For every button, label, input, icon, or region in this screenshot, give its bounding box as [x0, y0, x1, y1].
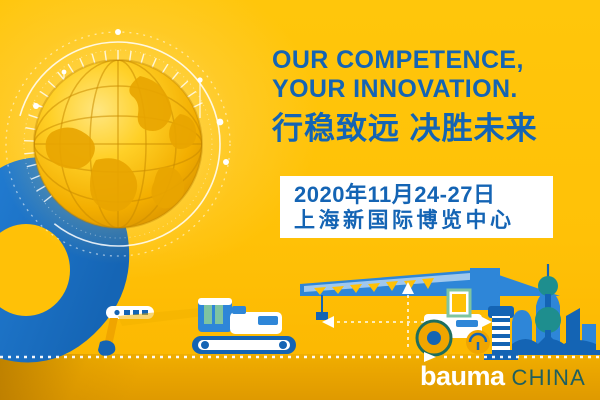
golden-globe-icon [0, 14, 244, 266]
headline-block: OUR COMPETENCE, YOUR INNOVATION. 行稳致远 决胜… [272, 46, 592, 149]
logo-region-text: CHINA [512, 364, 586, 392]
bauma-china-logo: bauma CHINA [420, 362, 586, 392]
headline-line-2: YOUR INNOVATION. [272, 75, 592, 104]
headline-line-1: OUR COMPETENCE, [272, 46, 592, 75]
bauma-china-banner: OUR COMPETENCE, YOUR INNOVATION. 行稳致远 决胜… [0, 0, 600, 400]
logo-brand-text: bauma [420, 362, 505, 390]
machinery-illustrations [0, 250, 600, 360]
shanghai-skyline-icon [508, 264, 600, 355]
headline-chinese: 行稳致远 决胜未来 [272, 109, 592, 149]
date-venue-box: 2020年11月24-27日 上海新国际博览中心 [280, 176, 553, 238]
event-venue: 上海新国际博览中心 [294, 208, 553, 234]
dotted-baseline-arrow [0, 352, 600, 362]
event-date: 2020年11月24-27日 [294, 182, 553, 208]
